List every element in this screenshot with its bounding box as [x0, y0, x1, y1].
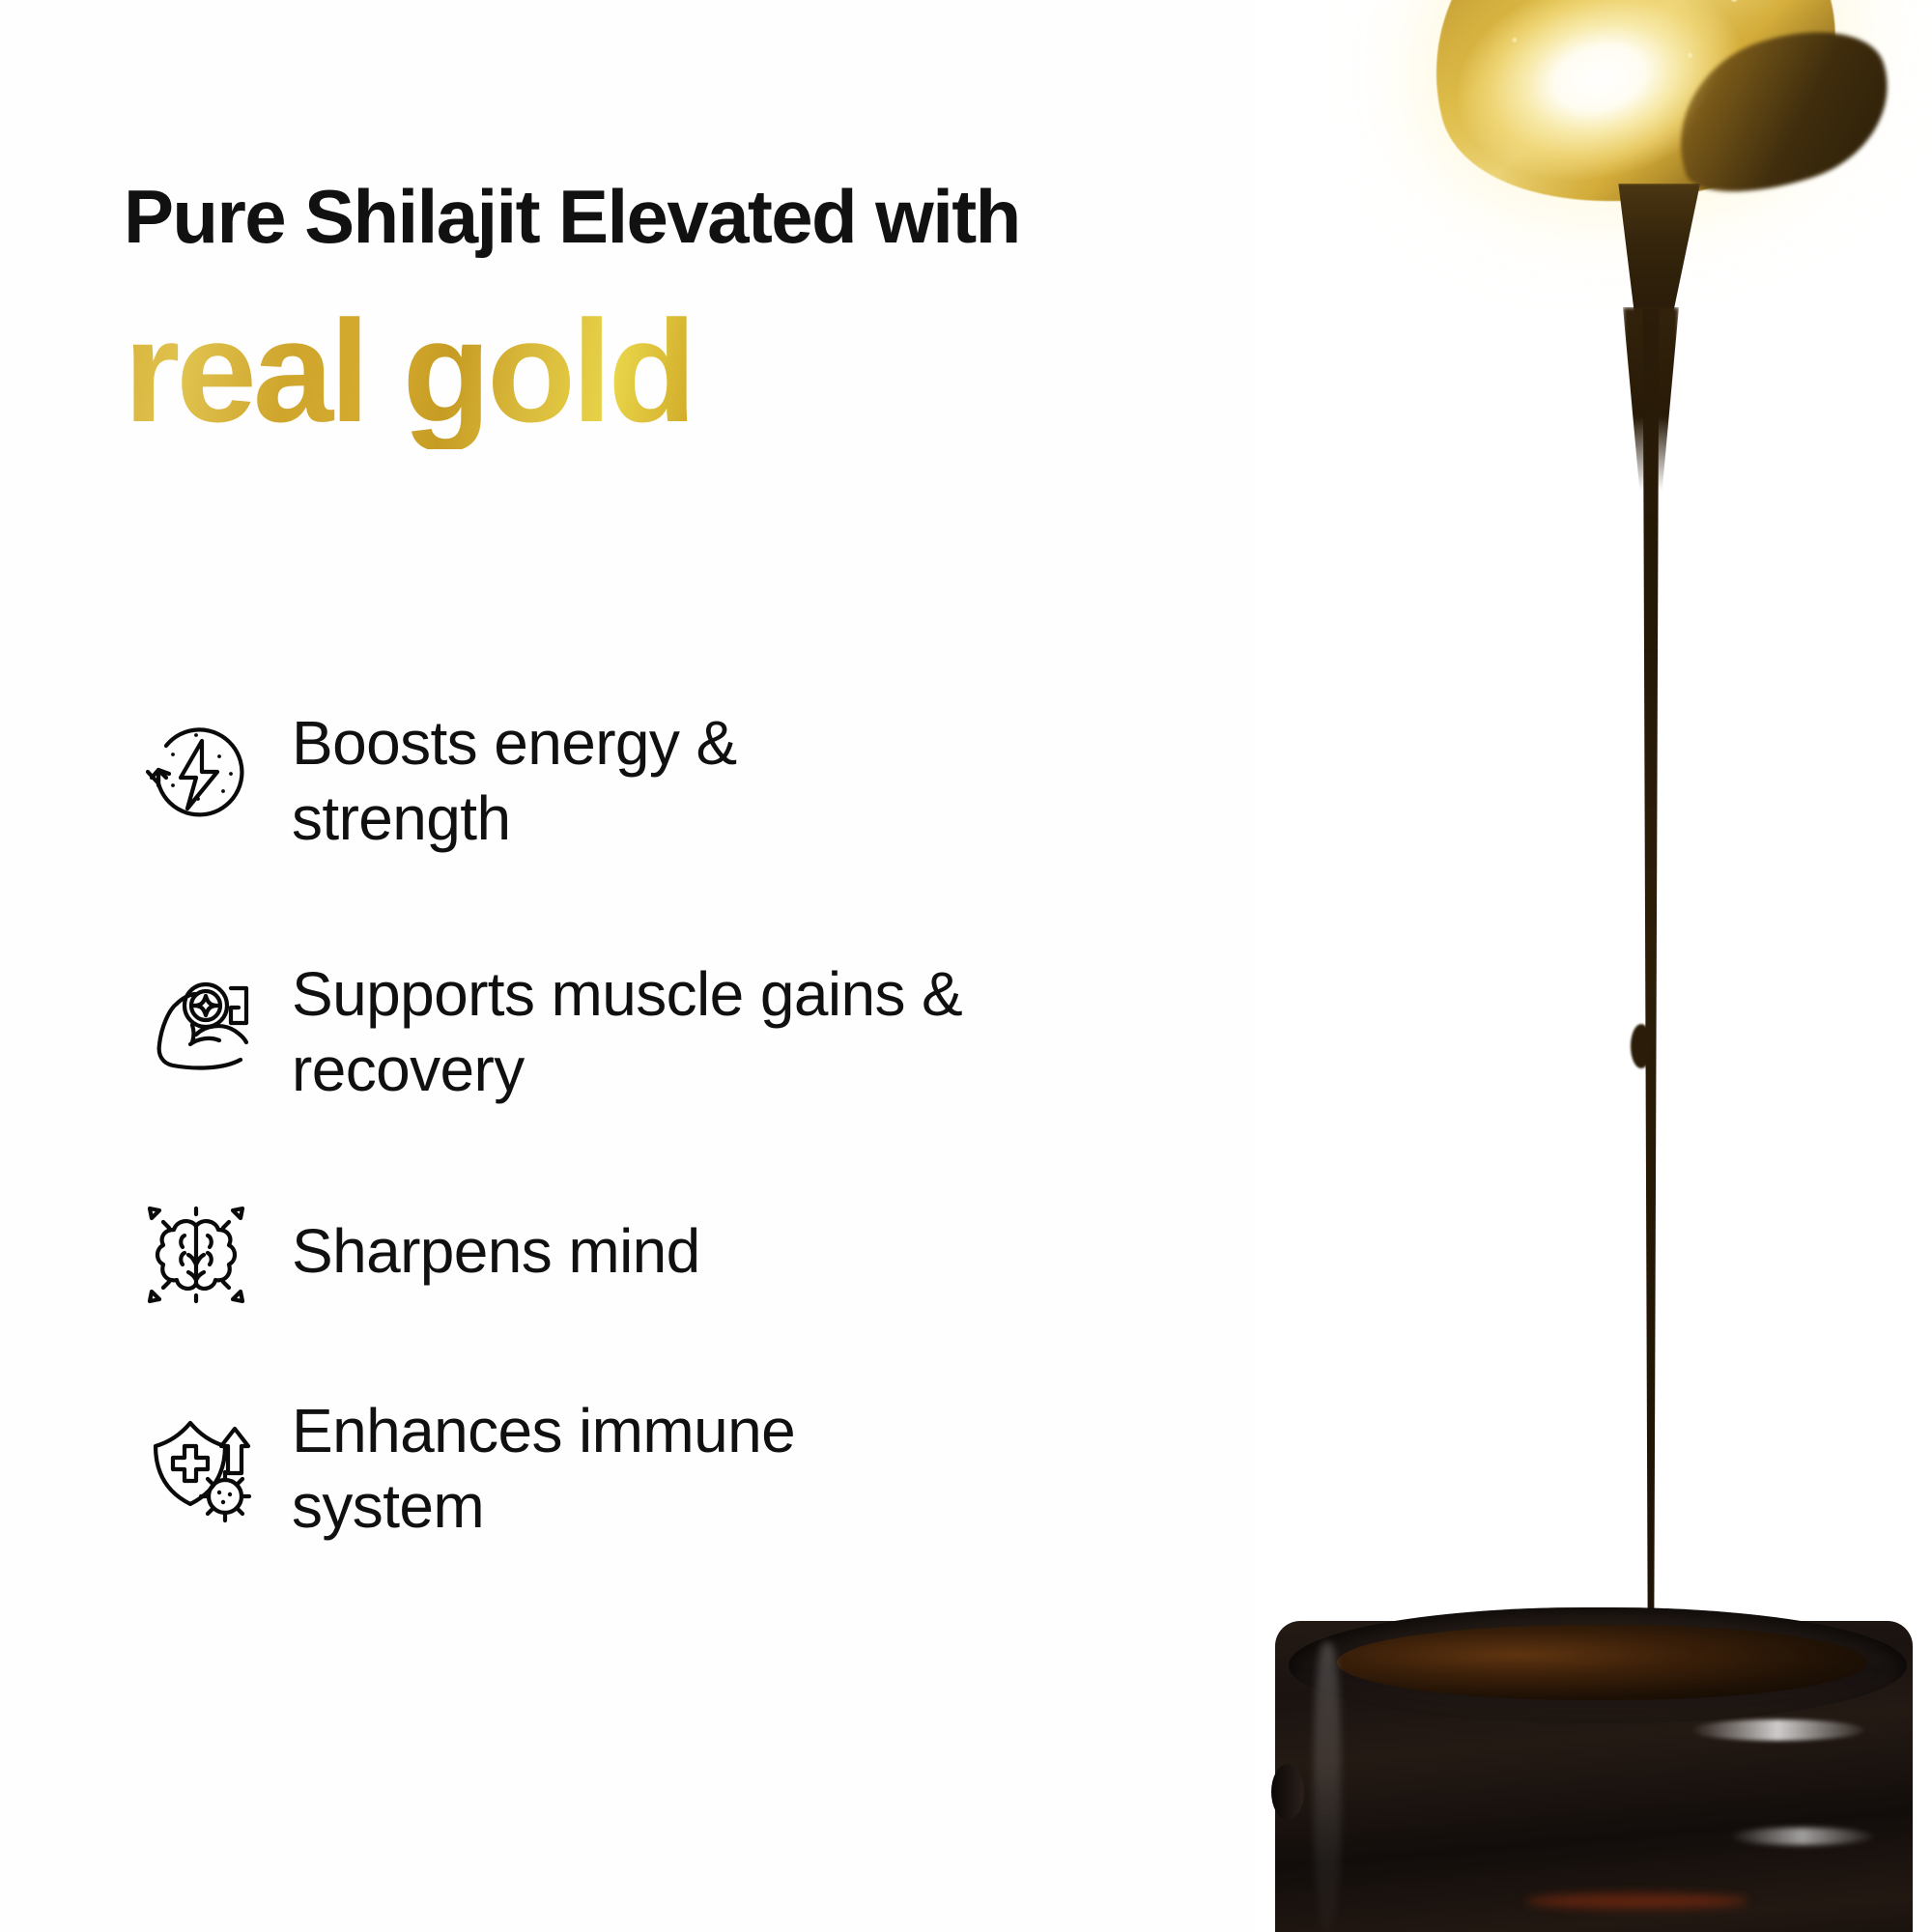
jar-resin-surface	[1337, 1625, 1866, 1700]
jar-side-nub	[1271, 1764, 1304, 1820]
benefit-label: Enhances immune system	[269, 1389, 968, 1544]
promo-banner: Pure Shilajit Elevated with real gold	[0, 0, 1932, 1932]
jar-highlight-upper	[1690, 1719, 1864, 1741]
product-photo	[1256, 0, 1932, 1932]
shield-immunity-virus-icon	[124, 1389, 269, 1534]
resin-drip-bead	[1631, 1024, 1652, 1068]
resin-jar	[1275, 1575, 1932, 1932]
benefit-item-muscle: Supports muscle gains & recovery	[124, 949, 1128, 1107]
headline: Pure Shilajit Elevated with real gold	[124, 179, 1128, 449]
headline-line-2-gold: real gold	[124, 293, 693, 449]
headline-line-1: Pure Shilajit Elevated with	[124, 179, 1128, 254]
benefit-item-mind: Sharpens mind	[124, 1182, 1128, 1327]
benefit-label: Sharpens mind	[269, 1182, 968, 1289]
flexed-bicep-muscle-icon	[124, 949, 269, 1094]
resin-drip-stream	[1638, 309, 1663, 1681]
brain-sparkle-icon	[124, 1182, 269, 1327]
benefit-item-energy: Boosts energy & strength	[124, 703, 1128, 856]
jar-highlight-lower	[1729, 1828, 1874, 1845]
spoon-neck	[1611, 184, 1700, 328]
energy-refresh-lightning-icon	[124, 703, 269, 848]
benefit-label: Boosts energy & strength	[269, 703, 968, 856]
jar-warm-glow	[1526, 1893, 1748, 1909]
benefit-label: Supports muscle gains & recovery	[269, 949, 968, 1107]
benefits-list: Boosts energy & strength	[124, 703, 1128, 1544]
benefit-item-immunity: Enhances immune system	[124, 1389, 1128, 1544]
jar-left-highlight	[1314, 1642, 1341, 1932]
content-column: Pure Shilajit Elevated with real gold	[0, 0, 1140, 1932]
